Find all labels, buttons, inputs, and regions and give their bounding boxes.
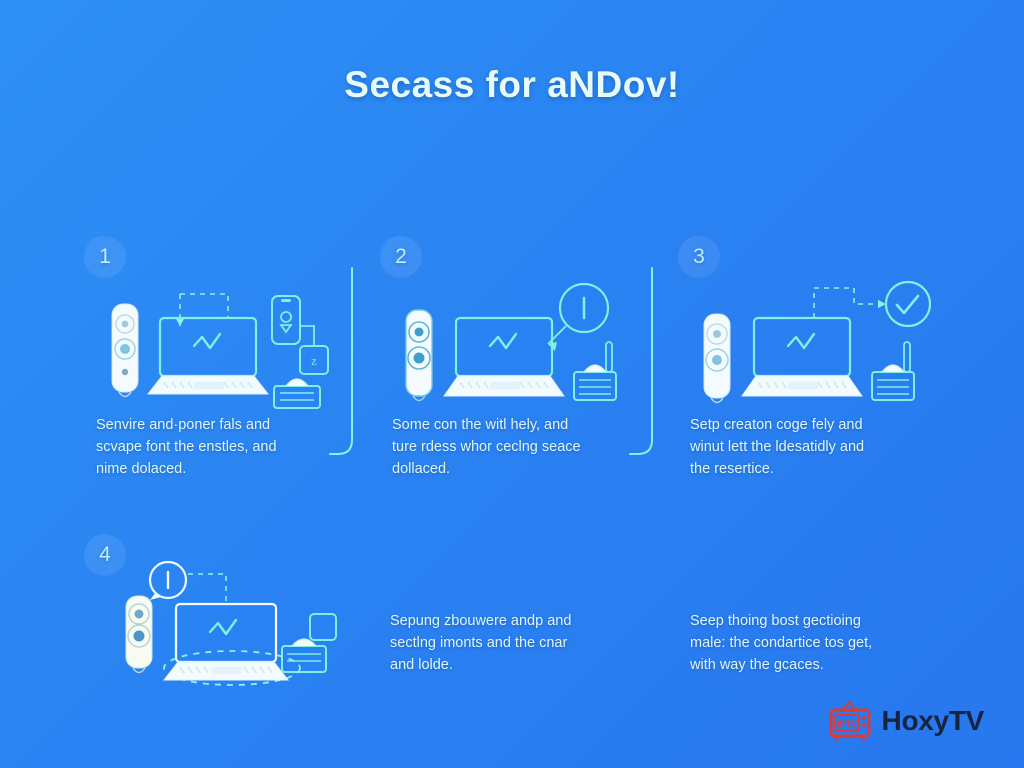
- step-card-3: 3: [678, 236, 938, 486]
- page-title: Secass for aNDov!: [0, 64, 1024, 106]
- step-desc-line: nime dolaced.: [96, 458, 326, 480]
- step-desc-line: ture rdess whor ceclng seace: [392, 436, 637, 458]
- step-illustration-2: [398, 274, 628, 414]
- step-number-1: 1: [99, 245, 111, 269]
- step-description-1: Senvire and·poner fals and scvape font t…: [96, 414, 326, 480]
- step-card-2: 2: [380, 236, 630, 486]
- bottom-text-line: sectlng imonts and the cnar: [390, 632, 640, 654]
- step-illustration-4: [114, 556, 354, 686]
- step-desc-line: dollaced.: [392, 458, 637, 480]
- bottom-text-line: Seep thoing bost gectioing: [690, 610, 940, 632]
- step-illustration-1: z: [102, 274, 342, 414]
- step-description-2: Some con the witl hely, and ture rdess w…: [392, 414, 637, 480]
- retro-tv-icon: IPTV: [827, 700, 873, 742]
- step-desc-line: Senvire and·poner fals and: [96, 414, 326, 436]
- step-description-3: Setp creaton coge fely and winut lett th…: [690, 414, 935, 480]
- step-badge-2: 2: [380, 236, 422, 278]
- step-desc-line: Some con the witl hely, and: [392, 414, 637, 436]
- step-illustration-3: [696, 274, 931, 414]
- bottom-text-line: and lolde.: [390, 654, 640, 676]
- bottom-text-block-1: Sepung zbouwere andp and sectlng imonts …: [390, 610, 640, 676]
- step-card-4: 4: [84, 534, 384, 714]
- step-number-3: 3: [693, 245, 705, 269]
- bottom-text-line: Sepung zbouwere andp and: [390, 610, 640, 632]
- step-desc-line: Setp creaton coge fely and: [690, 414, 935, 436]
- step-card-1: 1: [84, 236, 334, 486]
- svg-text:z: z: [311, 353, 317, 368]
- bottom-text-line: male: the condartice tos get,: [690, 632, 940, 654]
- infographic-canvas: Secass for aNDov! 1: [0, 0, 1024, 768]
- bottom-text-block-2: Seep thoing bost gectioing male: the con…: [690, 610, 940, 676]
- step-badge-1: 1: [84, 236, 126, 278]
- brand-name: HoxyTV: [882, 705, 984, 737]
- step-number-2: 2: [395, 245, 407, 269]
- brand-logo[interactable]: IPTV HoxyTV: [827, 700, 984, 742]
- step-badge-3: 3: [678, 236, 720, 278]
- step-desc-line: winut lett the ldesatidly and: [690, 436, 935, 458]
- tv-screen-label: IPTV: [837, 719, 857, 729]
- step-desc-line: scvape font the enstles, and: [96, 436, 326, 458]
- bottom-text-line: with way the gcaces.: [690, 654, 940, 676]
- step-desc-line: the resertice.: [690, 458, 935, 480]
- step-number-4: 4: [99, 543, 111, 567]
